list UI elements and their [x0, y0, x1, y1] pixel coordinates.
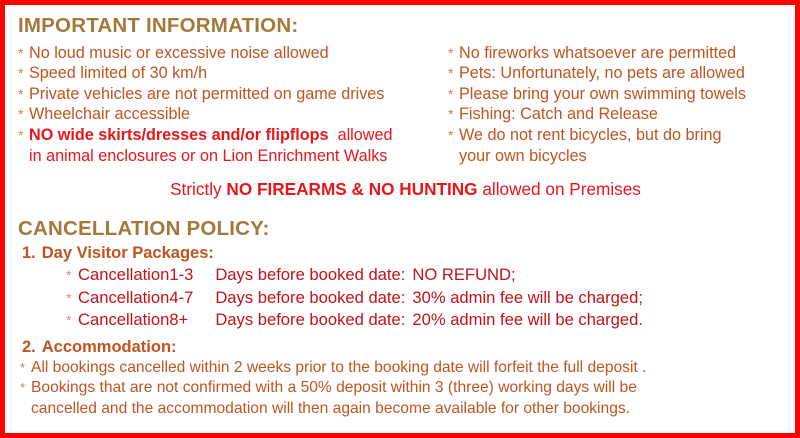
cancellation-row-label: Cancellation — [78, 287, 169, 310]
cancellation-row-mid: Days before booked date: — [215, 287, 405, 310]
firearms-suffix: allowed on Premises — [478, 179, 641, 199]
cancellation-row-days: 4-7 — [169, 287, 215, 310]
dress-code-line: NO wide skirts/dresses and/or flipflops … — [29, 125, 392, 146]
asterisk-icon: * — [20, 358, 31, 379]
bicycles-item: * We do not rent bicycles, but do bring — [448, 125, 800, 146]
list-item-label: Speed limited of 30 km/h — [29, 63, 207, 84]
list-item-label: Fishing: Catch and Release — [459, 104, 658, 125]
cancellation-row-result: 30% admin fee will be charged; — [405, 287, 643, 310]
asterisk-icon: * — [448, 104, 459, 125]
asterisk-icon: * — [448, 43, 459, 64]
list-item: * No loud music or excessive noise allow… — [18, 43, 448, 64]
list-item-label: Private vehicles are not permitted on ga… — [29, 84, 384, 105]
cancellation-row-mid: Days before booked date: — [215, 309, 405, 332]
policy-section-one-number: 1. — [22, 244, 36, 262]
asterisk-icon: * — [66, 309, 78, 332]
dress-code-second-line: in animal enclosures or on Lion Enrichme… — [18, 146, 448, 167]
accommodation-line-one: Bookings that are not confirmed with a 5… — [31, 379, 637, 396]
list-item: * Please bring your own swimming towels — [448, 84, 800, 105]
policy-section-two-label: Accommodation: — [42, 338, 177, 356]
list-item: * Fishing: Catch and Release — [448, 104, 800, 125]
policy-section-two-title: 2.Accommodation: — [14, 336, 787, 358]
list-item-label: No fireworks whatsoever are permitted — [459, 43, 736, 64]
list-item-label: Pets: Unfortunately, no pets are allowed — [459, 63, 745, 84]
asterisk-icon: * — [18, 104, 29, 125]
cancellation-policy-section: CANCELLATION POLICY: 1.Day Visitor Packa… — [14, 214, 787, 420]
dress-code-item: * NO wide skirts/dresses and/or flipflop… — [18, 125, 448, 146]
cancellation-policy-heading: CANCELLATION POLICY: — [14, 214, 787, 243]
cancellation-row-days: 8+ — [169, 309, 215, 332]
asterisk-icon: * — [20, 378, 31, 399]
sign-content: IMPORTANT INFORMATION: * No loud music o… — [5, 5, 795, 433]
firearms-notice: Strictly NO FIREARMS & NO HUNTING allowe… — [14, 178, 787, 200]
cancellation-row-label: Cancellation — [78, 309, 169, 332]
asterisk-icon: * — [448, 63, 459, 84]
asterisk-icon: * — [66, 287, 78, 310]
cancellation-row-result: NO REFUND; — [405, 264, 515, 287]
asterisk-icon: * — [18, 125, 29, 146]
bicycles-line-two: your own bicycles — [448, 146, 800, 167]
dress-code-bold: NO wide skirts/dresses and/or flipflops — [29, 126, 329, 144]
dress-code-rest: allowed — [338, 126, 393, 144]
list-item-label: Please bring your own swimming towels — [459, 84, 746, 105]
asterisk-icon: * — [18, 84, 29, 105]
firearms-bold: NO FIREARMS & NO HUNTING — [226, 179, 477, 199]
cancellation-row: * Cancellation 4-7 Days before booked da… — [14, 287, 787, 310]
cancellation-row-mid: Days before booked date: — [215, 264, 405, 287]
asterisk-icon: * — [448, 125, 459, 146]
information-sign: IMPORTANT INFORMATION: * No loud music o… — [0, 0, 800, 438]
list-item-label: Wheelchair accessible — [29, 104, 190, 125]
cancellation-row: * Cancellation 8+ Days before booked dat… — [14, 309, 787, 332]
list-item: * Pets: Unfortunately, no pets are allow… — [448, 63, 800, 84]
accommodation-item-label: Bookings that are not confirmed with a 5… — [31, 378, 637, 419]
firearms-prefix: Strictly — [170, 179, 226, 199]
list-item: * No fireworks whatsoever are permitted — [448, 43, 800, 64]
cancellation-row-days: 1-3 — [169, 264, 215, 287]
bicycles-line-one: We do not rent bicycles, but do bring — [459, 125, 721, 146]
list-item: * Wheelchair accessible — [18, 104, 448, 125]
policy-section-two-number: 2. — [22, 338, 36, 356]
important-right-column: * No fireworks whatsoever are permitted … — [448, 43, 800, 167]
cancellation-row: * Cancellation 1-3 Days before booked da… — [14, 264, 787, 287]
list-item: * Speed limited of 30 km/h — [18, 63, 448, 84]
list-item-label: No loud music or excessive noise allowed — [29, 43, 329, 64]
list-item: * Private vehicles are not permitted on … — [18, 84, 448, 105]
asterisk-icon: * — [448, 84, 459, 105]
accommodation-item: * Bookings that are not confirmed with a… — [14, 378, 787, 419]
policy-section-one-title: 1.Day Visitor Packages: — [14, 242, 787, 264]
accommodation-item-label: All bookings cancelled within 2 weeks pr… — [31, 358, 646, 379]
asterisk-icon: * — [66, 264, 78, 287]
accommodation-item: * All bookings cancelled within 2 weeks … — [14, 358, 787, 379]
policy-section-one-label: Day Visitor Packages: — [42, 244, 214, 262]
cancellation-row-label: Cancellation — [78, 264, 169, 287]
important-information-heading: IMPORTANT INFORMATION: — [14, 11, 787, 40]
asterisk-icon: * — [18, 63, 29, 84]
cancellation-row-result: 20% admin fee will be charged. — [405, 309, 643, 332]
accommodation-line-two: cancelled and the accommodation will the… — [31, 400, 630, 417]
asterisk-icon: * — [18, 43, 29, 64]
important-information-columns: * No loud music or excessive noise allow… — [14, 43, 787, 175]
important-left-column: * No loud music or excessive noise allow… — [18, 43, 448, 167]
